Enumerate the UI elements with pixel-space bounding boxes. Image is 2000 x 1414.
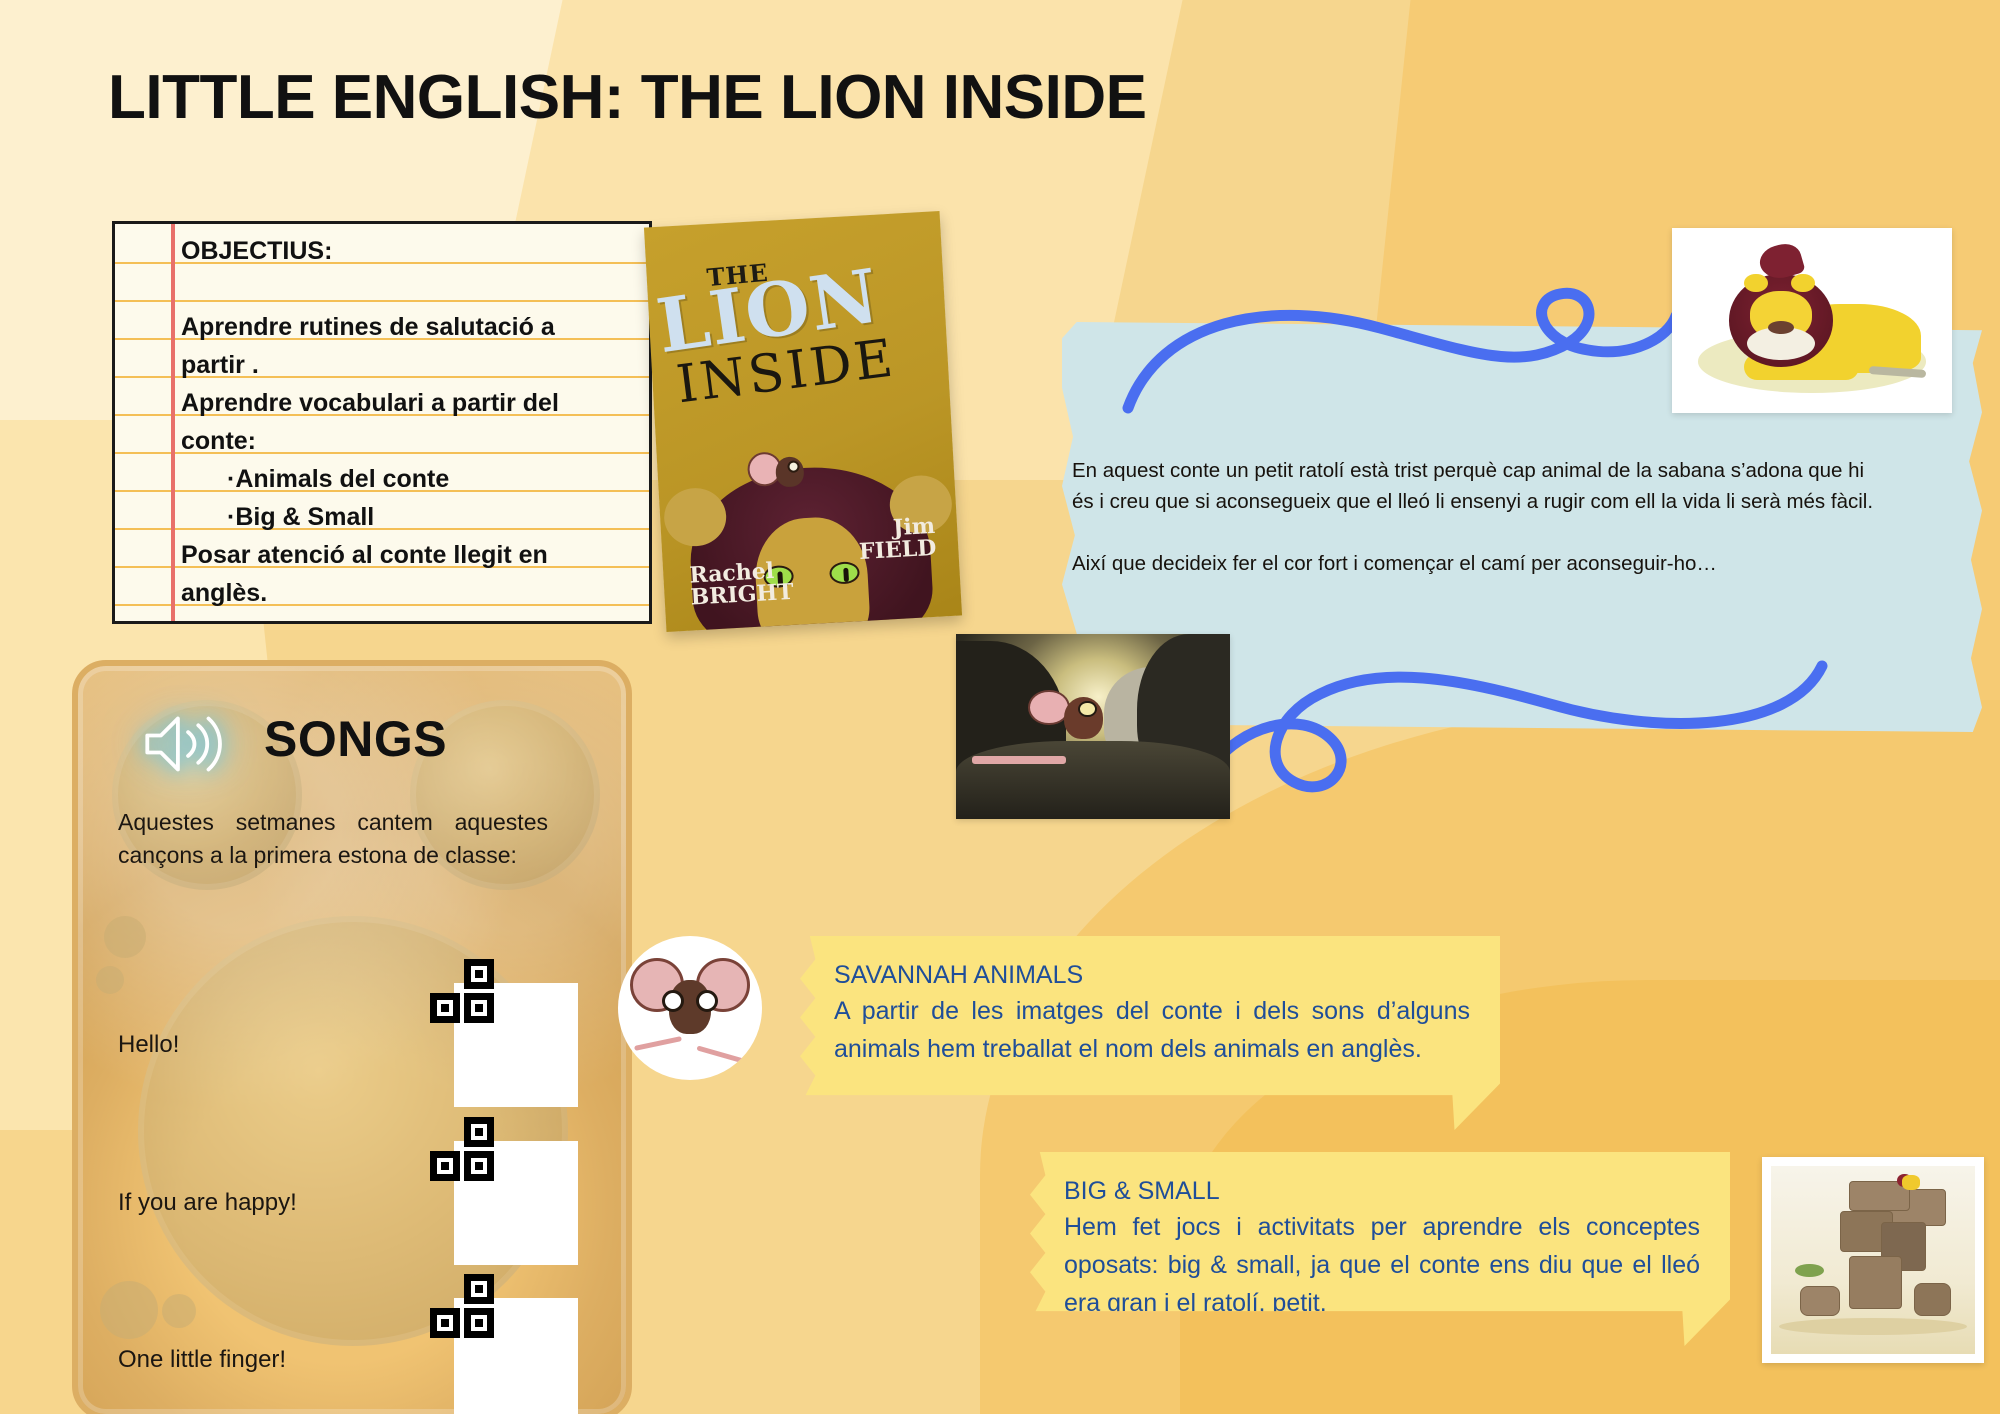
qr-finder-top-right — [430, 993, 460, 1023]
mouse-tail-shape — [972, 756, 1065, 763]
objectives-line-3: Aprendre vocabulari a partir del — [181, 384, 641, 422]
qr-code-hello[interactable] — [454, 983, 578, 1107]
mouse-eye-right — [696, 990, 718, 1012]
mouse-tail-left — [634, 1036, 682, 1051]
rock-formation-photo-frame — [1762, 1157, 1984, 1363]
cave-ground-shape — [956, 741, 1230, 819]
rock-block-e — [1849, 1256, 1902, 1309]
book-cover-author: Rachel BRIGHT — [689, 559, 794, 609]
acacia-tree-shape — [1795, 1264, 1824, 1277]
activity-body: Hem fet jocs i activitats per aprendre e… — [1064, 1208, 1700, 1322]
objectives-line-6: ·Big & Small — [181, 498, 641, 536]
mouse-badge-image — [618, 936, 762, 1080]
speaker-volume-icon — [140, 710, 226, 778]
objectives-heading: OBJECTIUS: — [181, 232, 641, 270]
lion-pupil-right — [843, 568, 849, 582]
activity-title: BIG & SMALL — [1064, 1174, 1700, 1208]
poster-canvas: LITTLE ENGLISH: THE LION INSIDE OBJECTIU… — [0, 0, 2000, 1414]
objectives-line-5: ·Animals del conte — [181, 460, 641, 498]
story-paragraph-1: En aquest conte un petit ratolí està tri… — [1072, 455, 1882, 517]
objectives-line-1: Aprendre rutines de salutació a — [181, 308, 641, 346]
qr-code-if-you-are-happy[interactable] — [454, 1141, 578, 1265]
song-label: One little finger! — [118, 1346, 286, 1374]
mouse-figure — [1033, 690, 1104, 753]
mouse-cave-illustration — [956, 634, 1230, 819]
songs-intro-text: Aquestes setmanes cantem aquestes cançon… — [118, 806, 548, 872]
book-cover-image: THE LION INSIDE Rachel BRIGHT Jim FIELD — [644, 211, 962, 632]
story-paragraph-2: Així que decideix fer el cor fort i come… — [1072, 548, 1882, 579]
song-row-hello: Hello! — [118, 985, 578, 1105]
mouse-eye-left — [662, 990, 684, 1012]
activity-title: SAVANNAH ANIMALS — [834, 958, 1470, 992]
song-row-one-little-finger: One little finger! — [118, 1300, 578, 1414]
objectives-line-4: conte: — [181, 422, 641, 460]
qr-finder-top-left — [464, 993, 494, 1023]
mouse-tail-right — [696, 1045, 751, 1065]
page-title: LITTLE ENGLISH: THE LION INSIDE — [108, 62, 1147, 133]
activity-body: A partir de les imatges del conte i dels… — [834, 992, 1470, 1068]
notebook-margin-line — [171, 224, 175, 621]
rock-block-f — [1800, 1286, 1841, 1316]
qr-finder-bottom-left — [464, 959, 494, 989]
qr-finder-bottom-left — [464, 1117, 494, 1147]
mouse-cave-photo-frame — [956, 634, 1230, 819]
mouse-eye-shape — [1078, 701, 1097, 717]
qr-finder-top-right — [430, 1151, 460, 1181]
song-label: Hello! — [118, 1031, 179, 1059]
songs-title: SONGS — [264, 710, 447, 768]
rock-block-g — [1914, 1283, 1951, 1317]
lion-illustration — [1682, 238, 1942, 403]
objectives-spacer — [181, 270, 641, 308]
rock-ground-shape — [1779, 1318, 1967, 1335]
qr-finder-top-right — [430, 1308, 460, 1338]
lion-ear-right — [1791, 274, 1814, 292]
song-row-if-you-are-happy: If you are happy! — [118, 1143, 578, 1263]
objectives-line-2: partir . — [181, 346, 641, 384]
lion-photo-frame — [1672, 228, 1952, 413]
book-cover-mouse-illustration — [751, 450, 807, 499]
rock-formation-illustration — [1771, 1166, 1975, 1354]
book-illustrator-last: FIELD — [858, 535, 937, 565]
objectives-line-7: Posar atenció al conte llegit en — [181, 536, 641, 574]
lion-nose-shape — [1768, 321, 1794, 334]
objectives-card: OBJECTIUS: Aprendre rutines de salutació… — [112, 221, 652, 624]
story-summary-text: En aquest conte un petit ratolí està tri… — [1072, 455, 1882, 579]
qr-code-one-little-finger[interactable] — [454, 1298, 578, 1414]
qr-finder-top-left — [464, 1308, 494, 1338]
speaker-knob-1 — [104, 916, 146, 958]
song-label: If you are happy! — [118, 1189, 297, 1217]
objectives-text: OBJECTIUS: Aprendre rutines de salutació… — [181, 232, 641, 612]
qr-finder-bottom-left — [464, 1274, 494, 1304]
book-cover-illustrator: Jim FIELD — [857, 515, 937, 563]
objectives-line-8: anglès. — [181, 574, 641, 612]
qr-finder-top-left — [464, 1151, 494, 1181]
rock-lion-body — [1902, 1175, 1920, 1190]
speaker-driver-main — [138, 916, 568, 1346]
